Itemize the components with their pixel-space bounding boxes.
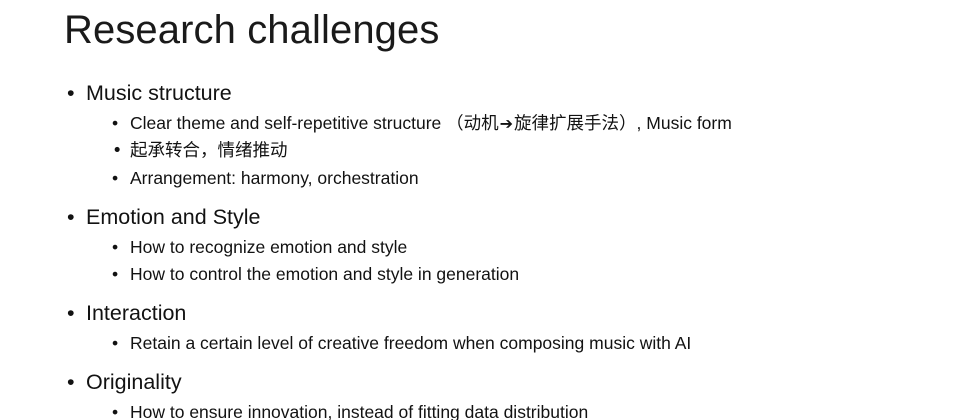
outline-item-level2[interactable]: • Retain a certain level of creative fre… — [86, 330, 944, 357]
outline-sublist: • Retain a certain level of creative fre… — [86, 330, 944, 357]
outline-level2-label: 起承转合，情绪推动 — [130, 141, 288, 161]
bullet-dot-icon: • — [112, 110, 118, 137]
outline-item-level2[interactable]: • How to control the emotion and style i… — [86, 261, 944, 288]
outline-item-level1[interactable]: • Music structure • Clear theme and self… — [64, 80, 944, 192]
outline-level1-label: Emotion and Style — [86, 205, 261, 229]
outline-level2-label: Retain a certain level of creative freed… — [130, 333, 691, 353]
outline-sublist: • How to ensure innovation, instead of f… — [86, 399, 944, 420]
bullet-dot-icon: • — [112, 261, 118, 288]
outline-item-level1[interactable]: • Originality • How to ensure innovation… — [64, 369, 944, 420]
right-arrow-icon: ➔ — [499, 114, 514, 133]
outline-level1-label: Music structure — [86, 81, 232, 105]
outline-level2-label: How to recognize emotion and style — [130, 237, 407, 257]
outline-item-level1[interactable]: • Interaction • Retain a certain level o… — [64, 300, 944, 357]
outline-level1-label: Originality — [86, 370, 182, 394]
outline-item-level2[interactable]: • Clear theme and self-repetitive struct… — [86, 110, 944, 138]
outline-item-level2[interactable]: • How to recognize emotion and style — [86, 234, 944, 261]
outline-level2-label: How to control the emotion and style in … — [130, 264, 519, 284]
outline-item-level2[interactable]: • How to ensure innovation, instead of f… — [86, 399, 944, 420]
bullet-dot-icon: • — [67, 369, 75, 396]
outline-item-level2[interactable]: • 起承转合，情绪推动 — [86, 138, 944, 165]
outline-level2-text-cjk-open: （动机 — [446, 114, 499, 134]
outline-level2-text-cjk-close: 旋律扩展手法） — [514, 114, 637, 134]
outline-sublist: • Clear theme and self-repetitive struct… — [86, 110, 944, 192]
bullet-dot-icon: • — [112, 234, 118, 261]
outline-level2-text-tail: , Music form — [637, 113, 732, 133]
bullet-dot-icon: • — [112, 330, 118, 357]
outline-level1-label: Interaction — [86, 301, 186, 325]
page-title: Research challenges — [64, 4, 439, 56]
bullet-outline: • Music structure • Clear theme and self… — [64, 80, 944, 420]
outline-item-level1[interactable]: • Emotion and Style • How to recognize e… — [64, 204, 944, 288]
outline-level2-label: Arrangement: harmony, orchestration — [130, 168, 419, 188]
bullet-dot-icon: • — [67, 204, 75, 231]
presentation-slide: Research challenges • Music structure • … — [0, 0, 975, 420]
bullet-dot-icon: • — [67, 300, 75, 327]
outline-item-level2[interactable]: • Arrangement: harmony, orchestration — [86, 165, 944, 192]
outline-level2-text-lead: Clear theme and self-repetitive structur… — [130, 113, 446, 133]
bullet-dot-icon: • — [112, 399, 118, 420]
bullet-dot-icon: • — [112, 138, 122, 165]
outline-sublist: • How to recognize emotion and style • H… — [86, 234, 944, 288]
bullet-dot-icon: • — [112, 165, 118, 192]
outline-level2-label: How to ensure innovation, instead of fit… — [130, 402, 588, 420]
bullet-dot-icon: • — [67, 80, 75, 107]
